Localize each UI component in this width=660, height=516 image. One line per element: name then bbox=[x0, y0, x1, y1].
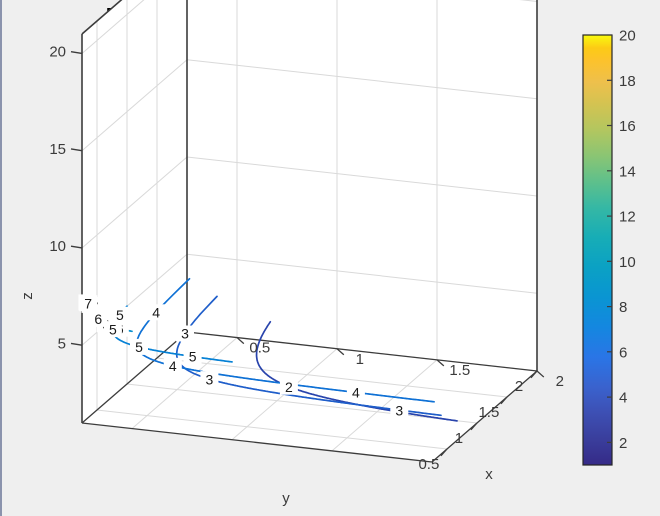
z-axis-label: z bbox=[19, 292, 36, 300]
x-tick-0.5: 0.5 bbox=[249, 340, 270, 357]
x-tick-1: 1 bbox=[356, 351, 364, 368]
y-tick-1.5: 1.5 bbox=[478, 404, 499, 421]
colorbar-gradient bbox=[583, 35, 612, 465]
x-axis-label: x bbox=[485, 466, 493, 483]
contour-label: 6 bbox=[94, 311, 102, 327]
contour-label: 3 bbox=[181, 326, 189, 342]
y-tick-1: 1 bbox=[455, 430, 463, 447]
contour-label: 4 bbox=[169, 358, 177, 374]
contour-label: 3 bbox=[395, 402, 403, 418]
y-tick-2: 2 bbox=[515, 378, 523, 395]
contour-plot-canvas: 7654327654376576543 0.511.520.511.525101… bbox=[2, 0, 660, 516]
colorbar-tick-16: 16 bbox=[619, 118, 636, 135]
colorbar-tick-4: 4 bbox=[619, 390, 627, 407]
contour-label: 4 bbox=[152, 305, 160, 321]
contour-label: 5 bbox=[135, 339, 143, 355]
z-tick-5: 5 bbox=[58, 335, 66, 352]
colorbar[interactable]: 2468101214161820 bbox=[583, 28, 636, 466]
contour-label: 5 bbox=[189, 349, 197, 365]
colorbar-tick-18: 18 bbox=[619, 73, 636, 90]
x-tick-1.5: 1.5 bbox=[449, 362, 470, 379]
colorbar-tick-20: 20 bbox=[619, 28, 636, 45]
z-tick-15: 15 bbox=[49, 141, 66, 158]
contour-label: 7 bbox=[84, 295, 92, 311]
z-tick-20: 20 bbox=[49, 44, 66, 61]
y-tick-0.5: 0.5 bbox=[418, 456, 439, 473]
contour-label: 4 bbox=[352, 385, 360, 401]
contour-label: 3 bbox=[206, 371, 214, 387]
contour-label: 5 bbox=[109, 321, 117, 337]
z-tick-10: 10 bbox=[49, 238, 66, 255]
x-tick-2: 2 bbox=[556, 373, 564, 390]
colorbar-tick-2: 2 bbox=[619, 435, 627, 452]
contour-label: 5 bbox=[116, 307, 124, 323]
colorbar-tick-12: 12 bbox=[619, 209, 636, 226]
y-axis-label: y bbox=[282, 490, 290, 507]
colorbar-tick-6: 6 bbox=[619, 344, 627, 361]
colorbar-tick-8: 8 bbox=[619, 299, 627, 316]
figure-window: Поверхность линий уровней функции Z=1./X… bbox=[0, 0, 660, 516]
contour-label: 2 bbox=[285, 379, 293, 395]
colorbar-tick-14: 14 bbox=[619, 163, 636, 180]
colorbar-tick-10: 10 bbox=[619, 254, 636, 271]
